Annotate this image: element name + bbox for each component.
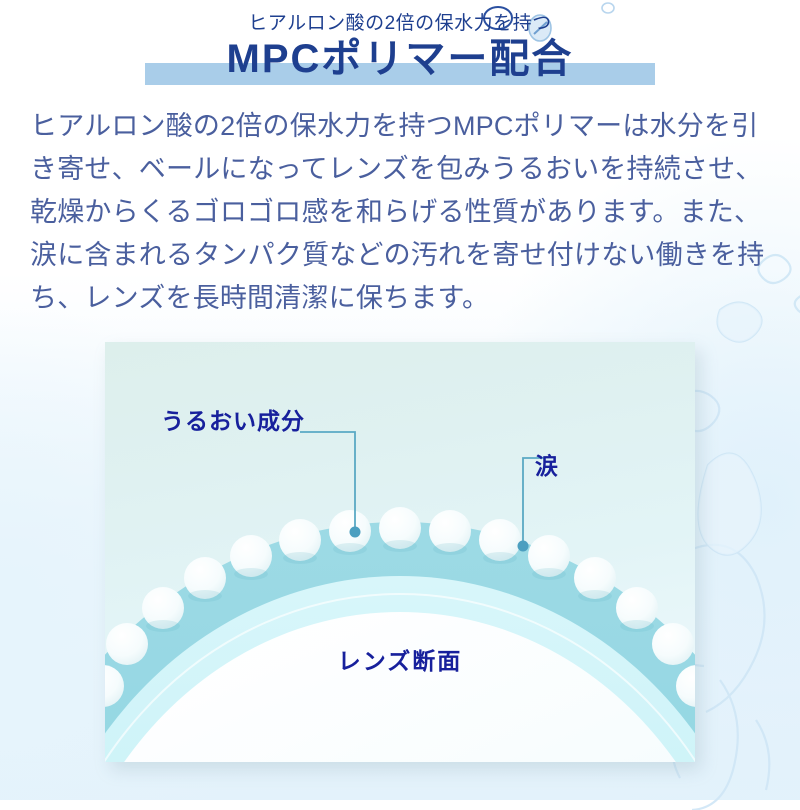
leader-dot-moisture: [350, 527, 361, 538]
body-copy: ヒアルロン酸の2倍の保水力を持つMPCポリマーは水分を引き寄せ、ベールになってレ…: [30, 105, 775, 320]
page-title: MPCポリマー配合: [0, 33, 800, 85]
page-background: ヒアルロン酸の2倍の保水力を持つ MPCポリマー配合 ヒアルロン酸の2倍の保水力…: [0, 0, 800, 800]
diagram-label-tear: 涙: [535, 447, 559, 481]
header: ヒアルロン酸の2倍の保水力を持つ MPCポリマー配合: [0, 0, 800, 100]
body-paragraph: ヒアルロン酸の2倍の保水力を持つMPCポリマーは水分を引き寄せ、ベールになってレ…: [30, 105, 775, 320]
diagram-label-cross-section: レンズ断面: [105, 642, 695, 676]
diagram-label-moisture: うるおい成分: [161, 402, 305, 436]
header-kicker: ヒアルロン酸の2倍の保水力を持つ: [0, 8, 800, 35]
leader-dot-tear: [518, 541, 529, 552]
lens-diagram-panel: うるおい成分 涙 レンズ断面: [105, 342, 695, 762]
header-title-wrap: MPCポリマー配合: [0, 33, 800, 95]
